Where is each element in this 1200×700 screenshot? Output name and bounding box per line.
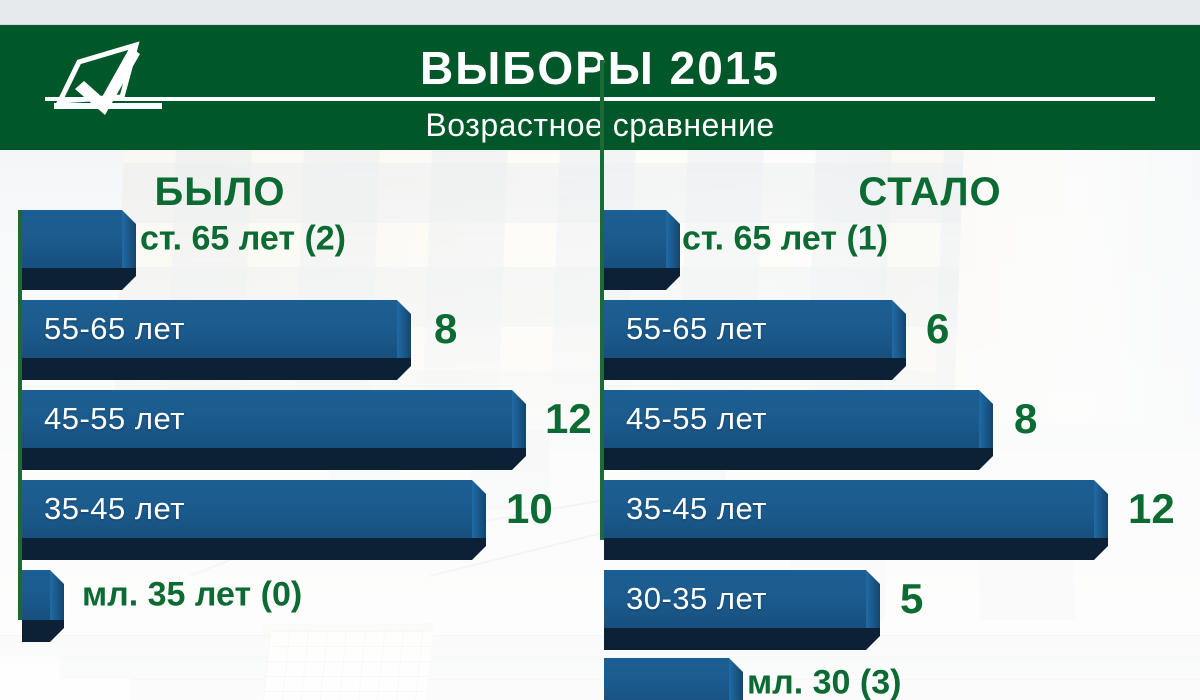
bar-bevel bbox=[50, 570, 64, 620]
bar-bevel bbox=[397, 300, 411, 358]
bar-category-label: 30-35 лет bbox=[626, 581, 767, 617]
bar-category-label: ст. 65 лет (1) bbox=[682, 220, 888, 259]
bar-bevel bbox=[1094, 480, 1108, 538]
bar-bevel bbox=[892, 300, 906, 358]
bar-row: 45-55 лет8 bbox=[604, 390, 999, 448]
bar-category-label: 45-55 лет bbox=[44, 401, 185, 437]
bar-shadow bbox=[604, 628, 866, 650]
top-strip bbox=[0, 0, 1200, 25]
bar-row: 35-45 лет10 bbox=[22, 480, 492, 538]
bar-category-label: 45-55 лет bbox=[626, 401, 767, 437]
bar-category-label: 55-65 лет bbox=[626, 311, 767, 347]
bar-body bbox=[604, 210, 666, 268]
bar-shadow-bevel bbox=[122, 268, 136, 290]
bar-bevel bbox=[729, 658, 743, 700]
bar-body bbox=[22, 210, 122, 268]
bar-shadow-bevel bbox=[979, 448, 993, 470]
bar-value-label: 8 bbox=[1014, 395, 1037, 443]
bar-shadow bbox=[22, 538, 472, 560]
bar-row: 30-35 лет5 bbox=[604, 570, 886, 628]
bar-category-label: мл. 30 (3) bbox=[747, 664, 901, 700]
bar-bevel bbox=[666, 210, 680, 268]
bar-row: ст. 65 лет (2) bbox=[22, 210, 142, 268]
bar-value-label: 12 bbox=[1128, 485, 1175, 533]
bar-shadow bbox=[604, 358, 892, 380]
bar-row: мл. 30 (3) bbox=[604, 658, 749, 700]
infographic-root: ВЫБОРЫ 2015 Возрастное сравнение БЫЛО ст… bbox=[0, 0, 1200, 700]
bar-bevel bbox=[866, 570, 880, 628]
bar-row: 55-65 лет6 bbox=[604, 300, 912, 358]
bar-shadow bbox=[604, 268, 666, 290]
bar-shadow bbox=[22, 358, 397, 380]
bar-bevel bbox=[472, 480, 486, 538]
bar-category-label: 35-45 лет bbox=[626, 491, 767, 527]
bar-shadow bbox=[22, 620, 50, 642]
bar-shadow-bevel bbox=[892, 358, 906, 380]
bar-shadow-bevel bbox=[512, 448, 526, 470]
bar-bevel bbox=[122, 210, 136, 268]
bar-shadow-bevel bbox=[397, 358, 411, 380]
bar-category-label: мл. 35 лет (0) bbox=[82, 576, 302, 615]
bar-value-label: 5 bbox=[900, 575, 923, 623]
bar-row: 45-55 лет12 bbox=[22, 390, 532, 448]
bar-shadow bbox=[22, 268, 122, 290]
bar-shadow bbox=[604, 448, 979, 470]
bar-bevel bbox=[979, 390, 993, 448]
bar-row: мл. 35 лет (0) bbox=[22, 570, 70, 620]
bar-shadow-bevel bbox=[50, 620, 64, 642]
bar-shadow-bevel bbox=[1094, 538, 1108, 560]
bar-shadow bbox=[22, 448, 512, 470]
bar-value-label: 6 bbox=[926, 305, 949, 353]
panel-title-before: БЫЛО bbox=[0, 170, 520, 215]
bar-row: ст. 65 лет (1) bbox=[604, 210, 686, 268]
bar-value-label: 8 bbox=[434, 305, 457, 353]
bar-body bbox=[22, 570, 50, 620]
chart-panel-before: БЫЛО ст. 65 лет (2)55-65 лет845-55 лет12… bbox=[0, 150, 600, 700]
bar-category-label: ст. 65 лет (2) bbox=[140, 220, 346, 259]
bar-category-label: 55-65 лет bbox=[44, 311, 185, 347]
bar-shadow-bevel bbox=[472, 538, 486, 560]
bar-bevel bbox=[512, 390, 526, 448]
bar-category-label: 35-45 лет bbox=[44, 491, 185, 527]
bar-shadow-bevel bbox=[666, 268, 680, 290]
bar-row: 35-45 лет12 bbox=[604, 480, 1114, 538]
bar-row: 55-65 лет8 bbox=[22, 300, 417, 358]
axis-line-after bbox=[600, 60, 604, 540]
panel-title-after: СТАЛО bbox=[630, 170, 1200, 215]
bar-value-label: 10 bbox=[506, 485, 553, 533]
bar-body bbox=[604, 658, 729, 700]
bar-shadow bbox=[604, 538, 1094, 560]
chart-panel-after: СТАЛО ст. 65 лет (1)55-65 лет645-55 лет8… bbox=[600, 150, 1200, 700]
bar-shadow-bevel bbox=[866, 628, 880, 650]
bar-value-label: 12 bbox=[545, 395, 592, 443]
